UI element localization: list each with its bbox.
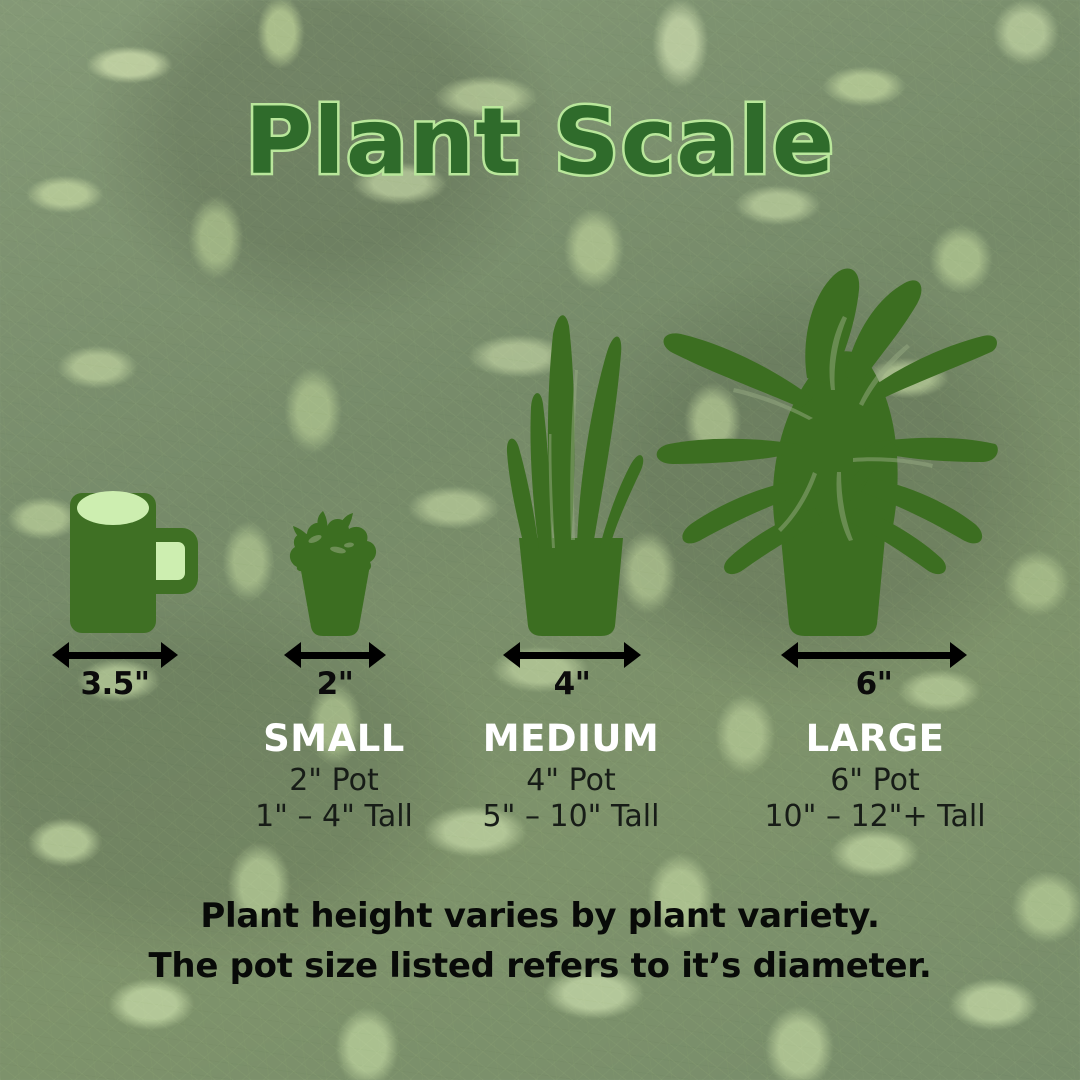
- measure-label-medium: 4": [503, 666, 641, 702]
- fern-plant-silhouette: [655, 258, 1000, 638]
- page-title: Plant Scale: [0, 96, 1080, 188]
- caption-height-medium: 5" – 10" Tall: [431, 798, 711, 836]
- caption-pot-medium: 4" Pot: [431, 762, 711, 800]
- caption-height-large: 10" – 12"+ Tall: [735, 798, 1015, 836]
- measure-arrow-medium: 4": [503, 642, 641, 668]
- measure-label-large: 6": [781, 666, 967, 702]
- footer-line-2: The pot size listed refers to it’s diame…: [0, 942, 1080, 992]
- arrow-head-right-icon: [950, 642, 967, 668]
- arrow-line: [62, 652, 168, 659]
- measure-label-mug: 3.5": [52, 666, 178, 702]
- arrow-line: [513, 652, 631, 659]
- measure-arrow-large: 6": [781, 642, 967, 668]
- small-plant-silhouette: [275, 505, 395, 637]
- arrow-head-right-icon: [624, 642, 641, 668]
- arrow-line: [294, 652, 376, 659]
- caption-title-medium: MEDIUM: [431, 720, 711, 759]
- caption-title-large: LARGE: [735, 720, 1015, 759]
- measure-label-small: 2": [284, 666, 386, 702]
- arrow-head-right-icon: [369, 642, 386, 668]
- infographic-canvas: Plant Scale: [0, 0, 1080, 1080]
- arrow-head-right-icon: [161, 642, 178, 668]
- measure-arrow-mug: 3.5": [52, 642, 178, 668]
- coffee-mug-icon: [60, 480, 210, 640]
- measure-arrow-small: 2": [284, 642, 386, 668]
- footer-note: Plant height varies by plant variety. Th…: [0, 892, 1080, 991]
- footer-line-1: Plant height varies by plant variety.: [0, 892, 1080, 942]
- arrow-line: [791, 652, 957, 659]
- caption-medium: MEDIUM 4" Pot 5" – 10" Tall: [431, 720, 711, 837]
- caption-large: LARGE 6" Pot 10" – 12"+ Tall: [735, 720, 1015, 837]
- caption-pot-large: 6" Pot: [735, 762, 1015, 800]
- snake-plant-silhouette: [495, 300, 660, 637]
